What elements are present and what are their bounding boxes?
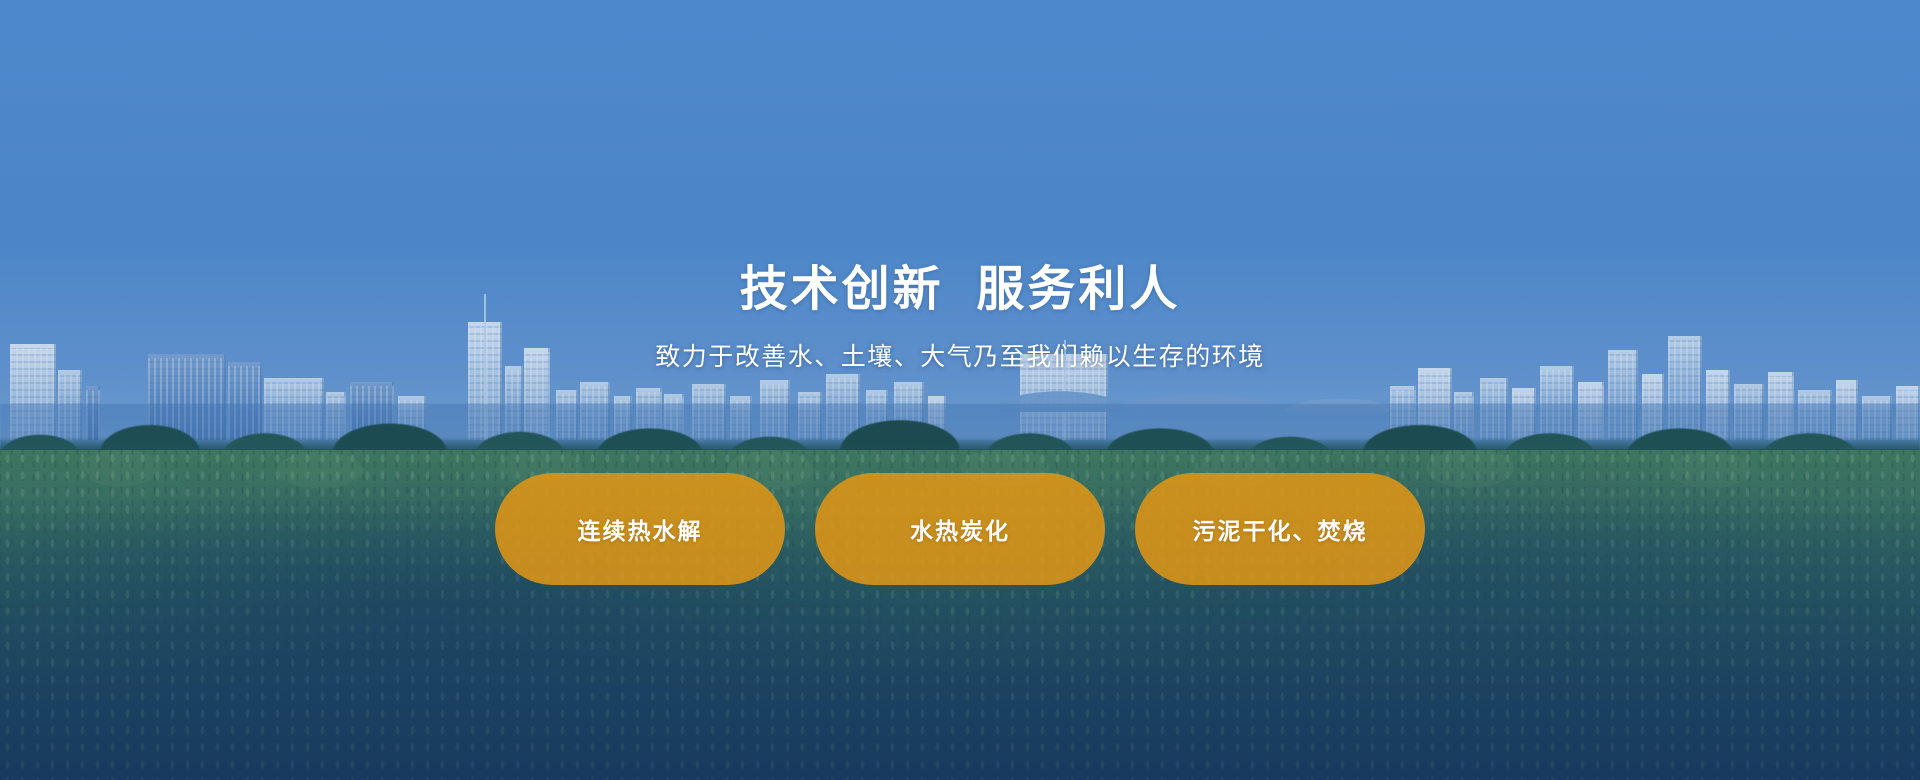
- hero-button-group: 连续热水解 水热炭化 污泥干化、焚烧: [0, 473, 1920, 585]
- pill-button-continuous-thermal-hydrolysis[interactable]: 连续热水解: [495, 473, 785, 585]
- hero-overlay: 技术创新 服务利人 致力于改善水、土壤、大气乃至我们赖以生存的环境 连续热水解 …: [0, 0, 1920, 780]
- pill-button-hydrothermal-carbonization[interactable]: 水热炭化: [815, 473, 1105, 585]
- pill-button-sludge-drying-incineration[interactable]: 污泥干化、焚烧: [1135, 473, 1425, 585]
- hero-subtitle: 致力于改善水、土壤、大气乃至我们赖以生存的环境: [0, 341, 1920, 374]
- hero-title: 技术创新 服务利人: [0, 262, 1920, 319]
- hero-banner: 技术创新 服务利人 致力于改善水、土壤、大气乃至我们赖以生存的环境 连续热水解 …: [0, 0, 1920, 780]
